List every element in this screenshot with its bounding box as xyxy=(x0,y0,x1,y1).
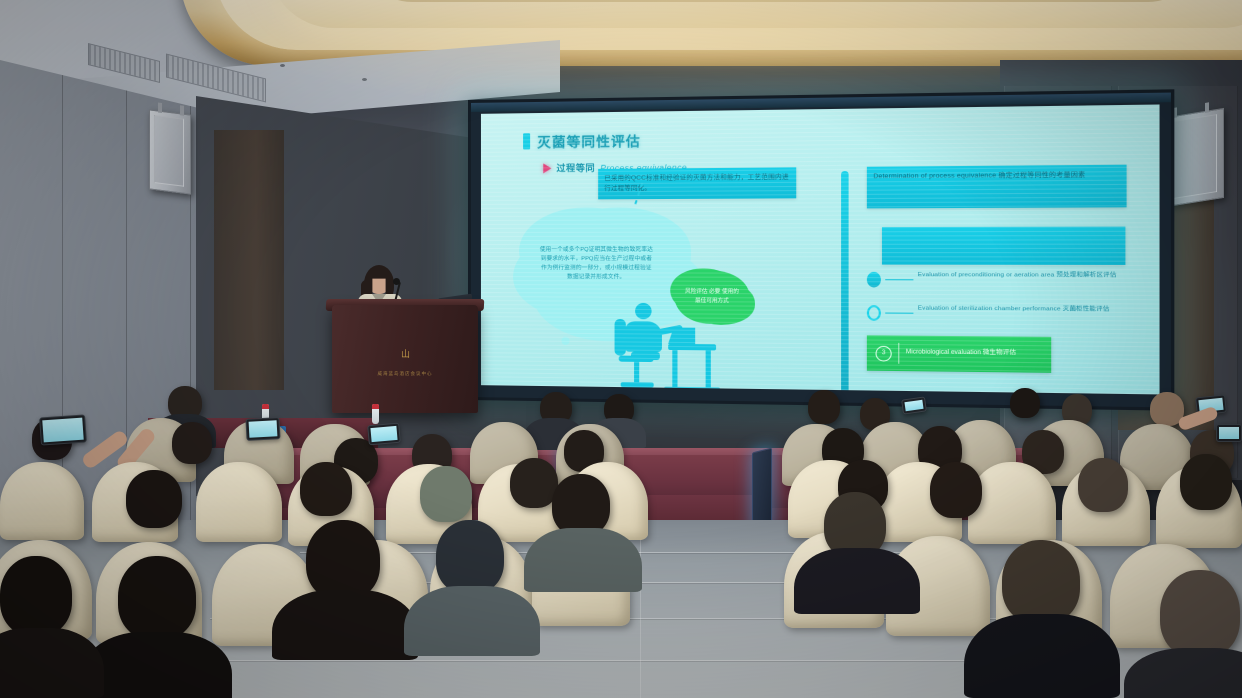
podium-logo: 山 xyxy=(401,347,409,360)
presentation-slide: 灭菌等同性评估 过程等同 Process equivalence 已采用的QCC… xyxy=(481,104,1160,394)
bullet-marker-hollow-icon xyxy=(867,305,881,321)
ceiling-spot-1 xyxy=(280,64,285,67)
bullet-text-1: Evaluation of preconditioning or aeratio… xyxy=(918,271,1117,282)
audience-head xyxy=(420,466,472,522)
audience-head xyxy=(126,470,182,528)
audience-head xyxy=(930,462,982,518)
audience-head xyxy=(1180,454,1232,510)
audience-head xyxy=(1010,388,1040,418)
audience-head xyxy=(510,458,558,508)
cloud-dot-2 xyxy=(561,337,569,345)
audience-head xyxy=(808,390,840,424)
audience-shoulders xyxy=(272,590,418,660)
green-highlight-pill: 3 Microbiological evaluation 微生物评估 xyxy=(867,335,1051,373)
audience-head xyxy=(300,462,352,516)
audience-head xyxy=(436,520,504,594)
slide-right-column: Determination of process equivalence 确定过… xyxy=(867,165,1144,395)
bullet-marker-filled-icon xyxy=(867,272,881,288)
chair xyxy=(196,462,282,542)
slide-title-row: 灭菌等同性评估 xyxy=(523,124,1144,152)
stage-monitor-right xyxy=(752,448,772,531)
slide-left-column: 已采用的QCC标准和经验证的灭菌方法和能力，工艺范围内进行过程等同化。 使用一个… xyxy=(519,167,830,394)
bullet-item-2: Evaluation of sterilization chamber perf… xyxy=(867,304,1144,323)
right-blank-box xyxy=(882,227,1125,265)
audience-shoulders xyxy=(794,548,920,614)
audience-phone xyxy=(245,417,280,441)
audience-phone xyxy=(367,423,401,446)
bullet-leader-line-2 xyxy=(885,313,913,314)
projection-screen: 灭菌等同性评估 过程等同 Process equivalence 已采用的QCC… xyxy=(481,104,1160,394)
audience-head xyxy=(1078,458,1128,512)
bullet-2-cn: 灭菌柜性能评估 xyxy=(1063,306,1110,313)
bullet-text-2: Evaluation of sterilization chamber perf… xyxy=(918,304,1110,315)
audience-head xyxy=(0,556,72,636)
person-at-desk-illustration xyxy=(615,297,725,395)
audience-shoulders xyxy=(82,632,232,698)
green-pill-en: Microbiological evaluation xyxy=(906,349,981,356)
bullet-1-cn: 预处理和解析区评估 xyxy=(1056,272,1116,279)
audience-head xyxy=(306,520,380,600)
ceiling-spot-2 xyxy=(362,78,367,81)
slide-title: 灭菌等同性评估 xyxy=(537,130,641,151)
audience-head xyxy=(552,474,610,536)
bullet-leader-line-1 xyxy=(885,279,913,280)
left-wall-speaker xyxy=(149,109,191,194)
right-heading-box: Determination of process equivalence 确定过… xyxy=(867,165,1127,209)
green-pill-text: Microbiological evaluation 微生物评估 xyxy=(906,348,1016,359)
conference-hall-photo: 灭菌等同性评估 过程等同 Process equivalence 已采用的QCC… xyxy=(0,0,1242,698)
audience-head xyxy=(118,556,196,640)
slide-top-callout: 已采用的QCC标准和经验证的灭菌方法和能力，工艺范围内进行过程等同化。 xyxy=(598,167,796,198)
ceiling-cove-light-2 xyxy=(268,0,1242,28)
ceiling-cove-core xyxy=(360,0,1200,2)
bullet-1-en: Evaluation of preconditioning or aeratio… xyxy=(918,272,1055,279)
podium-plaque: 威海蓝岛酒店会议中心 xyxy=(378,371,433,377)
projection-screen-frame: 灭菌等同性评估 过程等同 Process equivalence 已采用的QCC… xyxy=(468,89,1174,410)
water-bottle-2 xyxy=(372,404,379,424)
slide-columns: 已采用的QCC标准和经验证的灭菌方法和能力，工艺范围内进行过程等同化。 使用一个… xyxy=(481,164,1160,394)
audience-head xyxy=(172,422,212,464)
bullet-2-en: Evaluation of sterilization chamber perf… xyxy=(918,305,1061,312)
audience-head xyxy=(1002,540,1080,624)
microphone-icon xyxy=(393,278,400,285)
chair xyxy=(968,462,1056,544)
thought-cloud-text: 使用一个或多个PQ证明其微生物的致死率达到要求的水平，PPQ应当在生产过程中或者… xyxy=(539,245,653,283)
green-pill-cn: 微生物评估 xyxy=(983,350,1016,357)
cloud-dot-1 xyxy=(572,321,585,334)
audience-shoulders xyxy=(964,614,1120,698)
audience-head xyxy=(1160,570,1240,658)
audience-shoulders xyxy=(524,528,642,592)
audience-shoulders xyxy=(404,586,540,656)
bullet-item-1: Evaluation of preconditioning or aeratio… xyxy=(867,271,1144,289)
audience-phone xyxy=(39,414,87,445)
green-pill-separator xyxy=(898,343,899,364)
title-accent-bar xyxy=(523,133,530,149)
audience-phone xyxy=(1216,424,1242,442)
column-divider xyxy=(841,171,849,393)
left-wood-panel xyxy=(214,130,284,390)
podium: 山 威海蓝岛酒店会议中心 xyxy=(332,305,478,413)
green-pill-number: 3 xyxy=(876,345,892,361)
chair xyxy=(0,462,84,540)
